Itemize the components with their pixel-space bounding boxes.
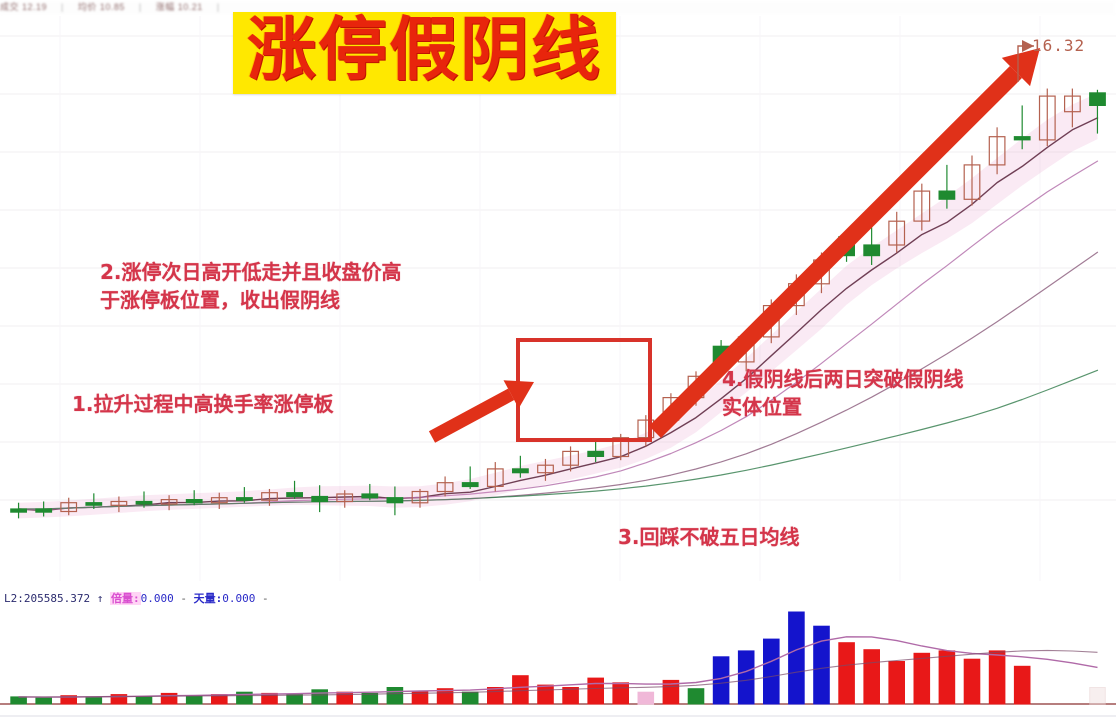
- volume-bar-31[interactable]: [789, 612, 805, 704]
- candle-body: [237, 498, 253, 501]
- highlight-box-false-bearish-candle: [516, 338, 652, 442]
- volume-bar-5[interactable]: [136, 697, 152, 704]
- max-volume-value: 0.000: [222, 592, 255, 605]
- candle-body: [839, 237, 855, 256]
- chart-screenshot: 成交 12.19|均价 10.85|涨幅 10.21| 16.32 涨停假阴线 …: [0, 0, 1116, 722]
- quote-separator: |: [139, 2, 142, 12]
- candle-body: [1014, 137, 1030, 140]
- volume-bar-34[interactable]: [864, 650, 880, 704]
- quote-separator: |: [61, 2, 64, 12]
- candle-body: [362, 494, 378, 498]
- volume-bar-20[interactable]: [513, 676, 529, 704]
- volume-chart-pane[interactable]: [0, 586, 1116, 722]
- volume-bar-43[interactable]: [1090, 688, 1106, 705]
- volume-bar-36[interactable]: [914, 653, 930, 704]
- volume-bar-37[interactable]: [939, 651, 955, 704]
- multiple-volume-label: 倍量:: [110, 592, 141, 605]
- volume-bar-28[interactable]: [713, 657, 729, 704]
- candle-body: [588, 451, 604, 456]
- price-tag-label: 16.32: [1032, 36, 1085, 55]
- multiple-volume-value: 0.000: [141, 592, 174, 605]
- volume-bar-18[interactable]: [462, 692, 478, 704]
- volume-bar-12[interactable]: [312, 690, 328, 704]
- candle-body: [36, 509, 52, 512]
- volume-bar-35[interactable]: [889, 662, 905, 705]
- up-arrow-icon: ↑: [97, 592, 104, 605]
- volume-ma-line: [19, 637, 1098, 697]
- volume-bar-29[interactable]: [738, 651, 754, 704]
- candle-body: [387, 498, 403, 503]
- candle-body: [864, 245, 880, 256]
- volume-bar-11[interactable]: [287, 695, 303, 704]
- volume-bar-7[interactable]: [186, 696, 202, 704]
- candle-body: [513, 469, 529, 473]
- ma-line-5: [19, 118, 1098, 511]
- volume-bar-19[interactable]: [488, 688, 504, 705]
- volume-bars-svg: [0, 586, 1116, 722]
- page-title: 涨停假阴线: [247, 14, 602, 86]
- annotation-2: 2.涨停次日高开低走并且收盘价高 于涨停板位置，收出假阴线: [100, 258, 402, 314]
- volume-bar-15[interactable]: [387, 688, 403, 705]
- volume-bar-0[interactable]: [11, 697, 27, 704]
- volume-bar-21[interactable]: [538, 685, 554, 704]
- candle-body: [312, 497, 328, 502]
- volume-bar-22[interactable]: [563, 688, 579, 705]
- candle-body: [713, 346, 729, 362]
- dash-1: -: [180, 592, 187, 605]
- volume-bar-27[interactable]: [688, 689, 704, 704]
- annotation-3: 3.回踩不破五日均线: [618, 523, 800, 551]
- volume-bar-32[interactable]: [814, 626, 830, 704]
- dash-2: -: [262, 592, 269, 605]
- quote-field-1: 均价 10.85: [78, 0, 125, 13]
- candle-28[interactable]: [713, 340, 729, 368]
- candle-body: [186, 500, 202, 503]
- volume-bar-33[interactable]: [839, 643, 855, 704]
- quote-field-2: 涨幅 10.21: [156, 0, 203, 13]
- quote-separator: |: [217, 2, 220, 12]
- candle-body: [939, 191, 955, 199]
- volume-bar-39[interactable]: [989, 651, 1005, 704]
- volume-bar-3[interactable]: [86, 697, 102, 704]
- volume-bar-30[interactable]: [764, 639, 780, 704]
- quote-field-0: 成交 12.19: [0, 0, 47, 13]
- l2-label: L2:: [4, 592, 24, 605]
- title-banner: 涨停假阴线: [233, 12, 616, 94]
- volume-bar-1[interactable]: [36, 698, 52, 704]
- volume-bar-24[interactable]: [613, 683, 629, 704]
- candle-body: [1090, 93, 1106, 106]
- candle-33[interactable]: [839, 231, 855, 262]
- candle-body: [11, 509, 27, 512]
- candle-body: [462, 483, 478, 487]
- volume-bar-25[interactable]: [638, 692, 654, 704]
- max-volume-label: 天量:: [194, 592, 223, 605]
- volume-bar-23[interactable]: [588, 678, 604, 704]
- annotation-4: 4.假阴线后两日突破假阴线 实体位置: [722, 365, 964, 421]
- candle-body: [287, 493, 303, 497]
- volume-indicator-header: L2:205585.372 ↑ 倍量:0.000 - 天量:0.000 -: [4, 590, 269, 606]
- l2-value: 205585.372: [24, 592, 90, 605]
- candle-30[interactable]: [764, 299, 780, 343]
- candle-body: [86, 503, 102, 506]
- volume-ma-line-long: [19, 650, 1098, 697]
- volume-bar-38[interactable]: [964, 659, 980, 704]
- volume-bar-40[interactable]: [1014, 666, 1030, 704]
- annotation-1: 1.拉升过程中高换手率涨停板: [72, 390, 334, 418]
- volume-bar-14[interactable]: [362, 693, 378, 704]
- candle-body: [136, 502, 152, 505]
